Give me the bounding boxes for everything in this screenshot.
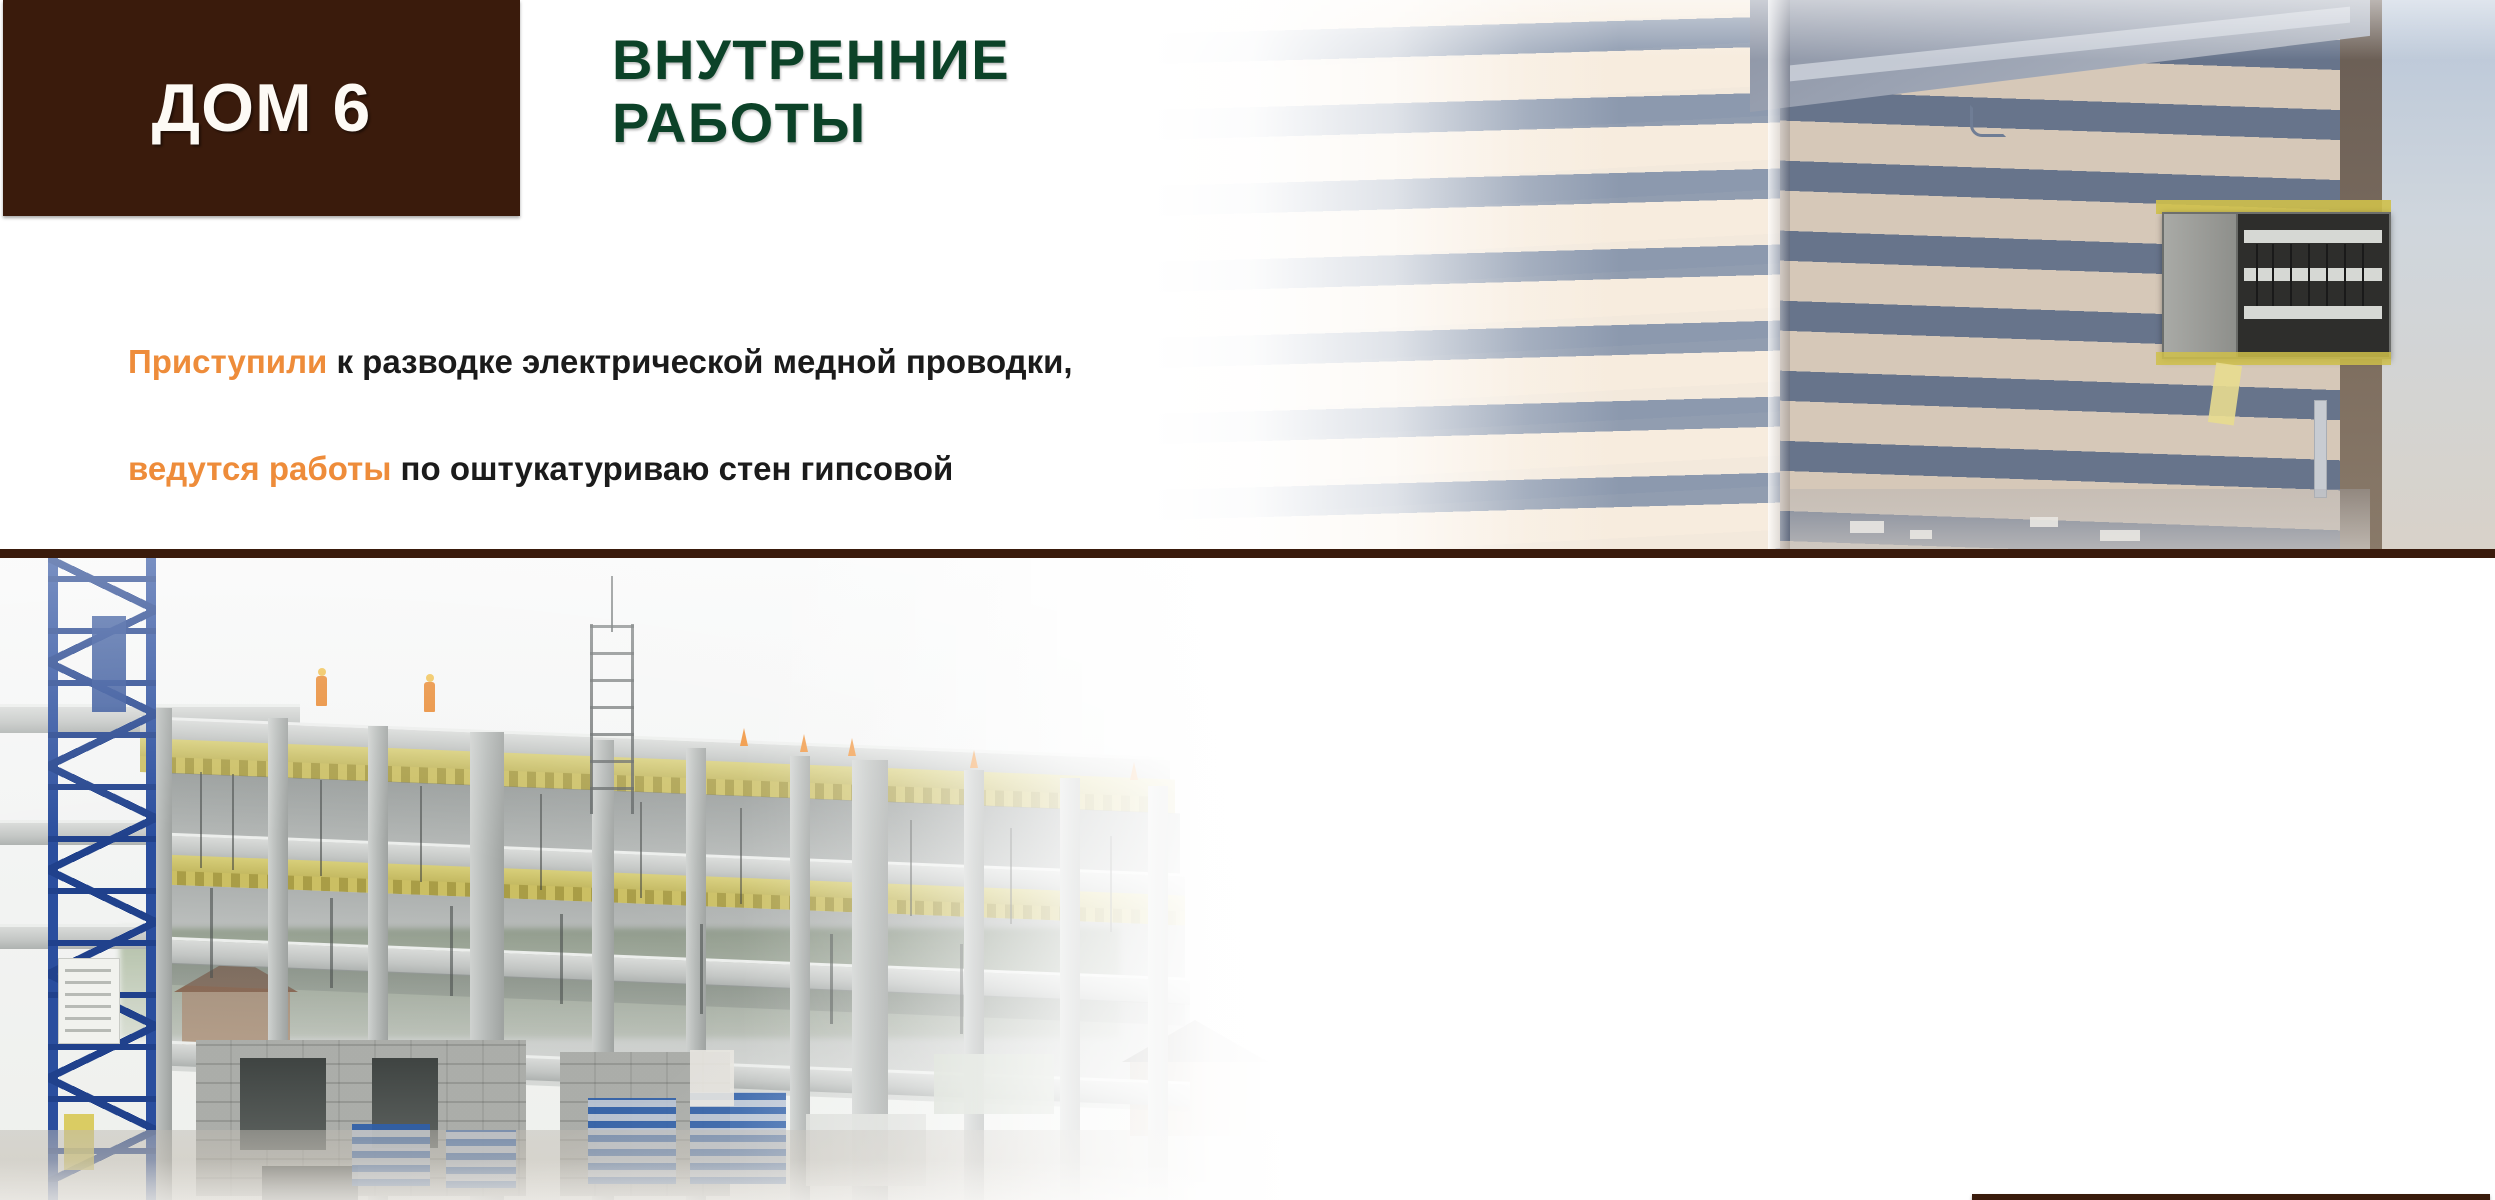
- section-house-6: ДОМ 6 ВНУТРЕННИЕ РАБОТЫ Приступили к раз…: [0, 0, 2495, 549]
- panel-wire: [2344, 244, 2346, 306]
- photo-right-fade: [740, 558, 1300, 1200]
- wall-wire-loop: [1970, 105, 2006, 137]
- heading-internal-works: ВНУТРЕННИЕ РАБОТЫ: [612, 28, 1312, 155]
- electrical-panel-interior: [2238, 214, 2389, 357]
- wall-conduit: [2314, 400, 2327, 498]
- panel-tape-bottom: [2156, 352, 2391, 365]
- presentation-slide: ДОМ 6 ВНУТРЕННИЕ РАБОТЫ Приступили к раз…: [0, 0, 2495, 1200]
- copy-text: к разводке электрической медной проводки…: [327, 343, 1072, 380]
- panel-wire: [2308, 244, 2310, 306]
- plate-house-6: ДОМ 6: [3, 0, 520, 216]
- floor-debris: [1850, 521, 1884, 533]
- floor-debris: [1910, 530, 1932, 539]
- plate-house-7: ДОМ 7: [1972, 1194, 2490, 1200]
- section-divider: [0, 549, 2495, 558]
- wall-corner-shadow: [1768, 0, 1790, 549]
- copy-highlight: ведутся работы: [128, 450, 391, 487]
- copy-highlight: Приступили: [128, 343, 327, 380]
- photo-bottom-fade: [0, 1160, 1300, 1200]
- panel-wire: [2272, 244, 2274, 306]
- panel-wire: [2362, 244, 2364, 306]
- breaker-rail: [2244, 230, 2382, 243]
- panel-wire: [2256, 244, 2258, 306]
- floor-debris: [2100, 530, 2140, 541]
- heading-monolithic-frame-works: МОНОЛИТНО- КАРКАСНЫЕ РАБОТЫ: [1215, 1196, 1915, 1200]
- electrical-panel: [2162, 212, 2391, 359]
- plate-house-6-label: ДОМ 6: [152, 69, 372, 147]
- floor-strip: [1790, 489, 2370, 549]
- electrical-panel-door: [2164, 214, 2238, 357]
- copy-text: по оштукатуриваю стен гипсовой: [391, 450, 953, 487]
- body-copy-house-6: Приступили к разводке электрической медн…: [128, 282, 1468, 549]
- panel-wire: [2290, 244, 2292, 306]
- breaker-rail: [2244, 306, 2382, 319]
- panel-wire: [2326, 244, 2328, 306]
- floor-debris: [2030, 517, 2058, 527]
- section-house-7: МОНОЛИТНО- КАРКАСНЫЕ РАБОТЫ ДОМ 7 выстав…: [0, 558, 2495, 1200]
- photo-construction-works: [0, 558, 1300, 1200]
